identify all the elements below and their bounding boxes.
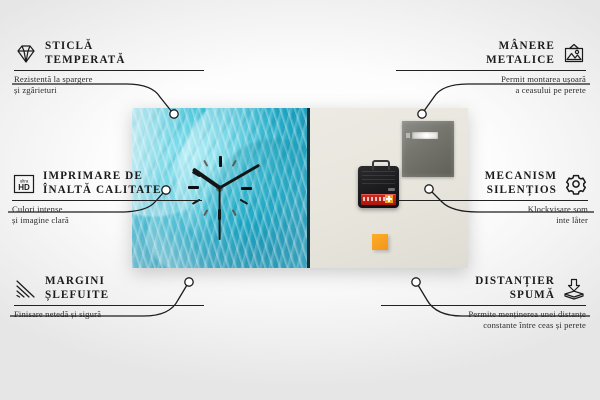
callout-metal-handles[interactable]: MÂNERE METALICE Permit montarea ușoară a… (396, 40, 586, 96)
gear-icon (564, 173, 588, 195)
callout-subtitle: Culori intense și imagine clară (12, 204, 202, 226)
movement-marker (388, 188, 395, 191)
diamond-icon (14, 43, 38, 65)
callout-tempered-glass[interactable]: STICLĂ TEMPERATĂ Rezistentă la spargere … (14, 40, 204, 96)
battery (361, 194, 396, 205)
callout-high-quality-print[interactable]: ultra HD IMPRIMARE DE ÎNALTĂ CALITATE Cu… (12, 170, 202, 226)
callout-rule (396, 70, 586, 71)
callout-subtitle: Klockvisare som inte låter (398, 204, 588, 226)
hanger-slot (412, 132, 438, 139)
clock-movement (358, 166, 399, 208)
foam-spacer-arrow-icon (562, 278, 586, 300)
movement-hook (372, 160, 390, 170)
callout-header: MECANISM SILENȚIOS (398, 170, 588, 197)
callout-rule (381, 305, 586, 306)
hanging-picture-frame-icon (562, 43, 586, 65)
callout-header: MARGINI ȘLEFUITE (14, 275, 204, 302)
callout-header: DISTANȚIER SPUMĂ (381, 275, 586, 302)
callout-foam-spacer[interactable]: DISTANȚIER SPUMĂ Permite menținerea unei… (381, 275, 586, 331)
callout-header: STICLĂ TEMPERATĂ (14, 40, 204, 67)
svg-text:HD: HD (18, 183, 30, 192)
callout-title: DISTANȚIER SPUMĂ (381, 275, 555, 302)
callout-title: MECANISM SILENȚIOS (398, 170, 557, 197)
callout-rule (12, 200, 202, 201)
callout-header: MÂNERE METALICE (396, 40, 586, 67)
battery-label (363, 197, 385, 201)
foam-spacer-pad (372, 234, 388, 250)
callout-subtitle: Permite menținerea unei distanțe constan… (381, 309, 586, 331)
clock-second-hand (219, 188, 221, 240)
movement-label-lines (362, 171, 395, 187)
callout-silent-mechanism[interactable]: MECANISM SILENȚIOS Klockvisare som inte … (398, 170, 588, 226)
beveled-edge-icon (14, 278, 38, 300)
callout-subtitle: Finisare netedă și sigură (14, 309, 204, 320)
ultra-hd-icon: ultra HD (12, 173, 36, 195)
battery-plus-terminal (385, 195, 393, 203)
callout-title: STICLĂ TEMPERATĂ (45, 40, 126, 67)
callout-subtitle: Rezistentă la spargere și zgârieturi (14, 74, 204, 96)
callout-header: ultra HD IMPRIMARE DE ÎNALTĂ CALITATE (12, 170, 202, 197)
callout-polished-edges[interactable]: MARGINI ȘLEFUITE Finisare netedă și sigu… (14, 275, 204, 320)
callout-rule (14, 305, 204, 306)
callout-rule (14, 70, 204, 71)
callout-title: MÂNERE METALICE (396, 40, 555, 67)
callout-title: MARGINI ȘLEFUITE (45, 275, 109, 302)
callout-rule (398, 200, 588, 201)
infographic-stage: STICLĂ TEMPERATĂ Rezistentă la spargere … (0, 0, 600, 400)
metal-hanger-plate (402, 121, 454, 177)
callout-subtitle: Permit montarea ușoară a ceasului pe per… (396, 74, 586, 96)
callout-title: IMPRIMARE DE ÎNALTĂ CALITATE (43, 170, 162, 197)
